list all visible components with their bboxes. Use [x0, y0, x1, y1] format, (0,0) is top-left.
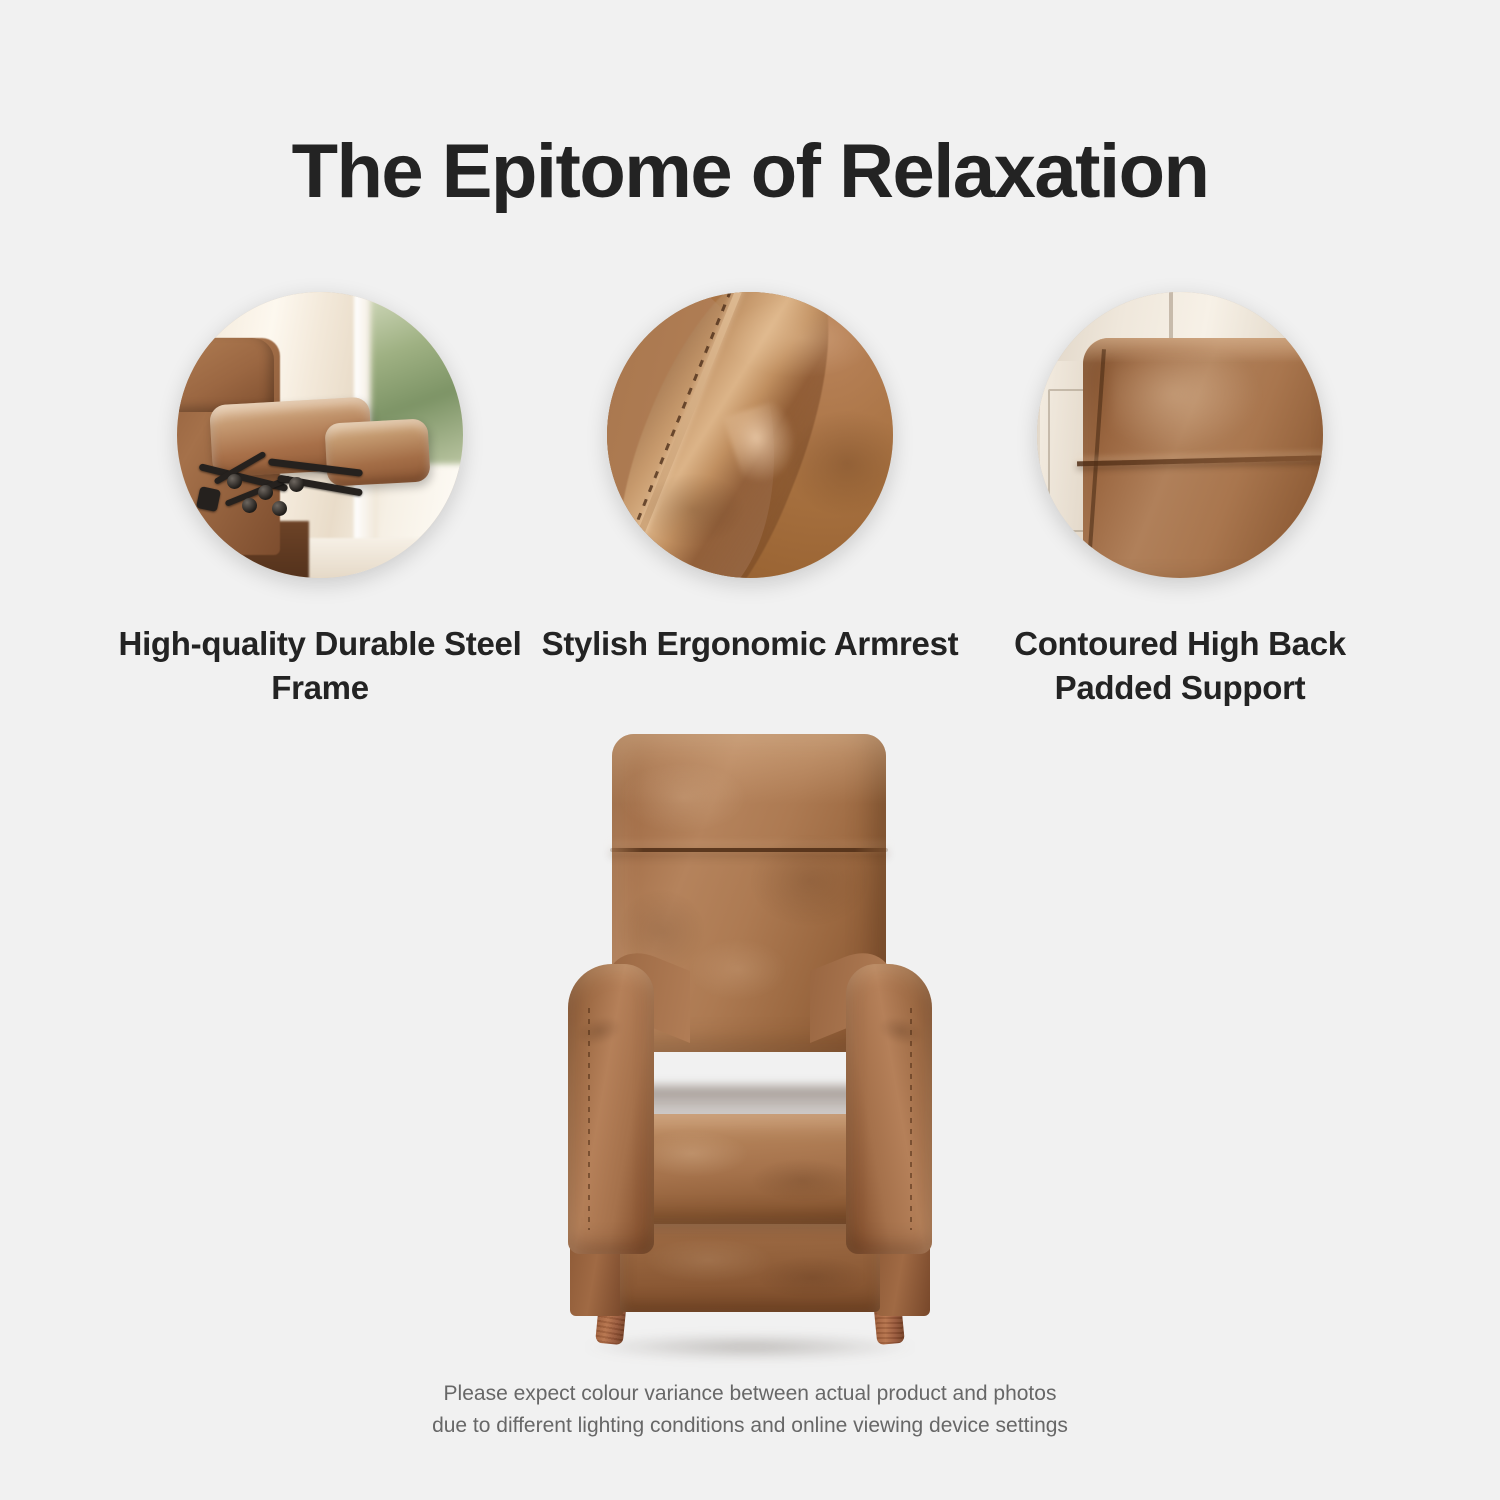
- feature-thumbnail-high-back[interactable]: [1037, 292, 1323, 578]
- chair-armrest-right: [846, 964, 932, 1254]
- feature-item-steel-frame[interactable]: High-quality Durable Steel Frame: [105, 292, 535, 710]
- chair-base-rail: [620, 1220, 880, 1312]
- feature-thumbnail-steel-frame[interactable]: [177, 292, 463, 578]
- chair-back-seam: [610, 848, 888, 852]
- steel-frame-mechanism: [194, 455, 400, 529]
- armrest-leather-image: [607, 292, 893, 578]
- feature-item-armrest[interactable]: Stylish Ergonomic Armrest: [535, 292, 965, 666]
- feature-label-armrest: Stylish Ergonomic Armrest: [540, 622, 960, 666]
- high-back-cushion-image: [1037, 292, 1323, 578]
- footrest-steel-mechanism-image: [177, 292, 463, 578]
- chair-armrest-left: [568, 964, 654, 1254]
- feature-item-high-back[interactable]: Contoured High Back Padded Support: [965, 292, 1395, 710]
- chair-seat-cushion: [618, 1114, 882, 1224]
- recliner-chair-illustration: [540, 726, 960, 1356]
- feature-label-steel-frame: High-quality Durable Steel Frame: [110, 622, 530, 710]
- feature-label-high-back: Contoured High Back Padded Support: [970, 622, 1390, 710]
- disclaimer-line-2: due to different lighting conditions and…: [0, 1410, 1500, 1442]
- feature-list: High-quality Durable Steel Frame Stylish…: [0, 292, 1500, 710]
- page-title: The Epitome of Relaxation: [0, 132, 1500, 213]
- feature-thumbnail-armrest[interactable]: [607, 292, 893, 578]
- hero-product-image: [0, 726, 1500, 1366]
- colour-variance-disclaimer: Please expect colour variance between ac…: [0, 1378, 1500, 1442]
- disclaimer-line-1: Please expect colour variance between ac…: [0, 1378, 1500, 1410]
